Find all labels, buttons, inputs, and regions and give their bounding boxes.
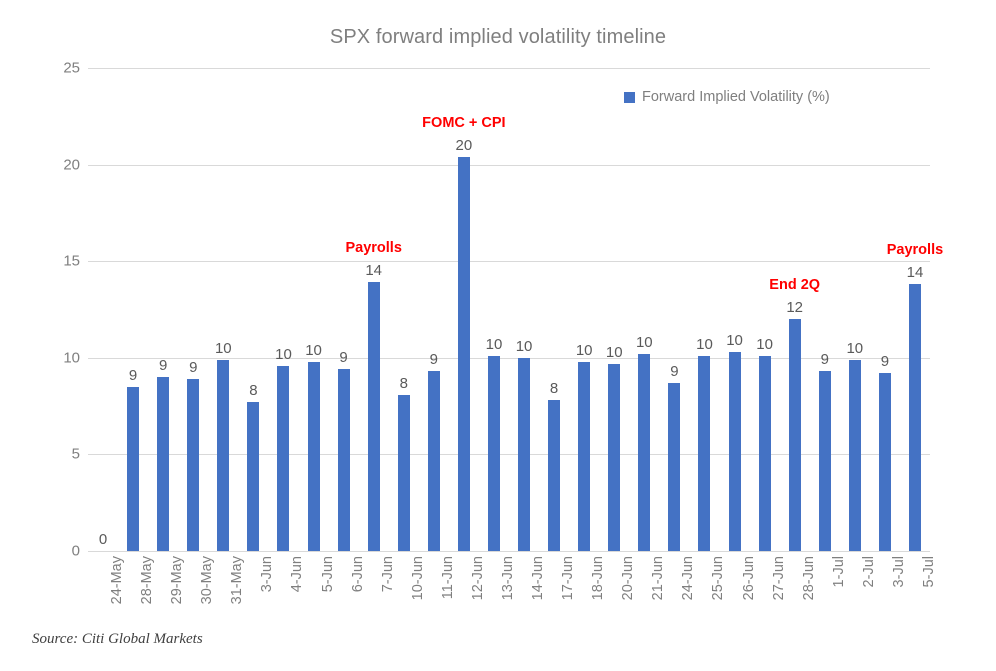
x-axis-tick-label: 20-Jun: [620, 556, 636, 600]
bar-value-label: 9: [339, 349, 347, 366]
bar-slot: 10: [599, 68, 629, 551]
bar[interactable]: [458, 157, 470, 551]
x-axis-tick-label: 18-Jun: [590, 556, 606, 600]
bar-slot: 8: [539, 68, 569, 551]
y-axis-tick-labels: 0510152025: [38, 68, 80, 551]
bar[interactable]: [368, 282, 380, 551]
bar[interactable]: [698, 356, 710, 551]
x-axis-tick-label: 13-Jun: [500, 556, 516, 600]
bar[interactable]: [488, 356, 500, 551]
y-axis-tick-label: 25: [38, 60, 80, 77]
bar-slot: 0: [88, 68, 118, 551]
bar[interactable]: [608, 364, 620, 551]
bar-slot: 8: [238, 68, 268, 551]
bar-value-label: 9: [881, 353, 889, 370]
bar-slot: 9: [178, 68, 208, 551]
bar-value-label: 10: [696, 336, 713, 353]
x-axis-tick-label: 1-Jul: [831, 556, 847, 587]
bar-slot: 9: [148, 68, 178, 551]
bar-slot: 10: [689, 68, 719, 551]
chart-title: SPX forward implied volatility timeline: [0, 26, 996, 49]
bar-slot: 8: [389, 68, 419, 551]
bar-slot: 10: [750, 68, 780, 551]
bar-slot: 9: [659, 68, 689, 551]
bar[interactable]: [157, 377, 169, 551]
bar[interactable]: [879, 373, 891, 551]
bar-slot: 10: [268, 68, 298, 551]
bar[interactable]: [638, 354, 650, 551]
x-axis-tick-label: 27-Jun: [771, 556, 787, 600]
bar-series: 09991081010914Payrolls8920FOMC + CPI1010…: [88, 68, 930, 551]
x-axis-tick-label: 11-Jun: [440, 556, 456, 599]
bar-value-label: 10: [606, 344, 623, 361]
bar-value-label: 12: [786, 299, 803, 316]
bar-value-label: 8: [550, 380, 558, 397]
x-axis-tick-label: 2-Jul: [861, 556, 877, 587]
bar-slot: 10: [299, 68, 329, 551]
y-axis-tick-label: 15: [38, 253, 80, 270]
x-axis-tick-label: 5-Jul: [921, 556, 937, 587]
bar-slot: 9: [419, 68, 449, 551]
bar[interactable]: [398, 395, 410, 551]
bar[interactable]: [518, 358, 530, 551]
bar[interactable]: [308, 362, 320, 551]
x-axis-tick-label: 25-Jun: [710, 556, 726, 600]
x-axis-tick-label: 31-May: [229, 556, 245, 604]
bar[interactable]: [578, 362, 590, 551]
bar-slot: 12End 2Q: [780, 68, 810, 551]
x-axis-tick-label: 12-Jun: [470, 556, 486, 600]
bar-value-label: 10: [516, 338, 533, 355]
bar-value-label: 10: [756, 336, 773, 353]
bar[interactable]: [548, 400, 560, 551]
bar[interactable]: [668, 383, 680, 551]
bar-slot: 10: [840, 68, 870, 551]
event-annotation: Payrolls: [887, 242, 943, 258]
bar-value-label: 9: [821, 351, 829, 368]
x-axis-tick-label: 3-Jul: [891, 556, 907, 587]
chart-container: SPX forward implied volatility timeline …: [0, 0, 996, 671]
bar-value-label: 0: [99, 531, 107, 548]
bar[interactable]: [909, 284, 921, 551]
x-axis-tick-label: 30-May: [199, 556, 215, 604]
bar[interactable]: [277, 366, 289, 551]
bar-slot: 14Payrolls: [359, 68, 389, 551]
bar[interactable]: [819, 371, 831, 551]
y-axis-tick-label: 20: [38, 156, 80, 173]
bar-value-label: 9: [670, 363, 678, 380]
x-axis-tick-labels: 24-May28-May29-May30-May31-May3-Jun4-Jun…: [88, 552, 930, 632]
plot-area: 09991081010914Payrolls8920FOMC + CPI1010…: [88, 68, 930, 551]
bar-value-label: 10: [576, 342, 593, 359]
bar-slot: 10: [629, 68, 659, 551]
bar-value-label: 10: [275, 346, 292, 363]
bar[interactable]: [729, 352, 741, 551]
bar-value-label: 8: [249, 382, 257, 399]
x-axis-tick-label: 6-Jun: [350, 556, 366, 592]
x-axis-tick-label: 14-Jun: [530, 556, 546, 600]
x-axis-tick-label: 24-May: [109, 556, 125, 604]
bar-slot: 14Payrolls: [900, 68, 930, 551]
bar-value-label: 9: [189, 359, 197, 376]
y-axis-tick-label: 10: [38, 349, 80, 366]
bar-value-label: 10: [846, 340, 863, 357]
x-axis-tick-label: 28-May: [139, 556, 155, 604]
y-axis-tick-label: 5: [38, 446, 80, 463]
x-axis-tick-label: 10-Jun: [410, 556, 426, 600]
x-axis-tick-label: 21-Jun: [650, 556, 666, 600]
bar-slot: 10: [720, 68, 750, 551]
bar-slot: 9: [329, 68, 359, 551]
x-axis-tick-label: 29-May: [169, 556, 185, 604]
bar-value-label: 9: [430, 351, 438, 368]
bar-value-label: 10: [636, 334, 653, 351]
bar-slot: 10: [208, 68, 238, 551]
bar-value-label: 9: [159, 357, 167, 374]
source-note: Source: Citi Global Markets: [32, 631, 203, 648]
x-axis-tick-label: 28-Jun: [801, 556, 817, 600]
bar[interactable]: [187, 379, 199, 551]
bar-value-label: 20: [456, 137, 473, 154]
bar[interactable]: [789, 319, 801, 551]
bar-slot: 9: [118, 68, 148, 551]
bar-slot: 10: [479, 68, 509, 551]
x-axis-tick-label: 5-Jun: [320, 556, 336, 592]
x-axis-tick-label: 26-Jun: [741, 556, 757, 600]
bar-value-label: 10: [486, 336, 503, 353]
x-axis-tick-label: 7-Jun: [380, 556, 396, 592]
bar-slot: 10: [569, 68, 599, 551]
bar-value-label: 8: [400, 375, 408, 392]
bar-value-label: 9: [129, 367, 137, 384]
bar[interactable]: [127, 387, 139, 551]
bar-value-label: 10: [215, 340, 232, 357]
bar[interactable]: [247, 402, 259, 551]
bar[interactable]: [338, 369, 350, 551]
bar-slot: 20FOMC + CPI: [449, 68, 479, 551]
bar-value-label: 10: [305, 342, 322, 359]
bar[interactable]: [849, 360, 861, 551]
y-axis-tick-label: 0: [38, 543, 80, 560]
x-axis-tick-label: 4-Jun: [289, 556, 305, 592]
bar[interactable]: [217, 360, 229, 551]
bar-slot: 10: [509, 68, 539, 551]
x-axis-tick-label: 3-Jun: [259, 556, 275, 592]
bar-value-label: 14: [365, 262, 382, 279]
bar[interactable]: [759, 356, 771, 551]
bar[interactable]: [428, 371, 440, 551]
bar-value-label: 14: [907, 264, 924, 281]
bar-slot: 9: [870, 68, 900, 551]
bar-slot: 9: [810, 68, 840, 551]
bar-value-label: 10: [726, 332, 743, 349]
x-axis-tick-label: 17-Jun: [560, 556, 576, 600]
x-axis-tick-label: 24-Jun: [680, 556, 696, 600]
